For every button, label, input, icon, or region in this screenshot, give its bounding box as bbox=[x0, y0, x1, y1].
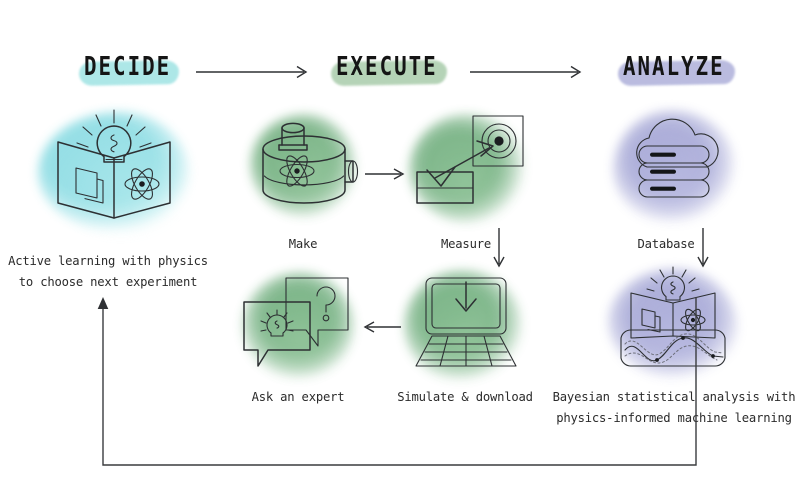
caption-active-learning-line2: to choose next experiment bbox=[19, 275, 197, 289]
phase-label-analyze: ANALYZE bbox=[623, 52, 725, 82]
phase-arrow-execute-to-analyze bbox=[470, 63, 588, 81]
caption-active-learning-line1: Active learning with physics bbox=[8, 254, 208, 268]
phase-label-decide: DECIDE bbox=[84, 52, 171, 82]
phase-header-execute: EXECUTE bbox=[336, 52, 463, 82]
phase-header-decide: DECIDE bbox=[84, 52, 193, 82]
scattering-detector-icon bbox=[411, 110, 529, 216]
caption-active-learning: Active learning with physics to choose n… bbox=[0, 251, 216, 293]
caption-make: Make bbox=[248, 234, 358, 254]
phase-header-analyze: ANALYZE bbox=[623, 52, 750, 82]
cloud-database-icon bbox=[617, 110, 733, 214]
flow-arrow-make-to-measure bbox=[365, 165, 411, 183]
flow-arrow-feedback-loop bbox=[92, 292, 712, 482]
caption-measure: Measure bbox=[406, 234, 526, 254]
phase-arrow-decide-to-execute bbox=[196, 63, 314, 81]
flow-arrow-measure-to-simulate bbox=[490, 228, 508, 274]
caption-measure-text: Measure bbox=[441, 237, 491, 251]
book-lightbulb-atom-icon bbox=[48, 108, 180, 226]
caption-database-text: Database bbox=[637, 237, 694, 251]
flow-arrow-database-to-bayesian bbox=[694, 228, 712, 274]
reactor-vessel-atom-icon bbox=[255, 114, 359, 206]
phase-label-execute: EXECUTE bbox=[336, 52, 438, 82]
caption-make-text: Make bbox=[289, 237, 318, 251]
diagram-canvas: DECIDE EXECUTE ANALYZE bbox=[0, 0, 800, 501]
